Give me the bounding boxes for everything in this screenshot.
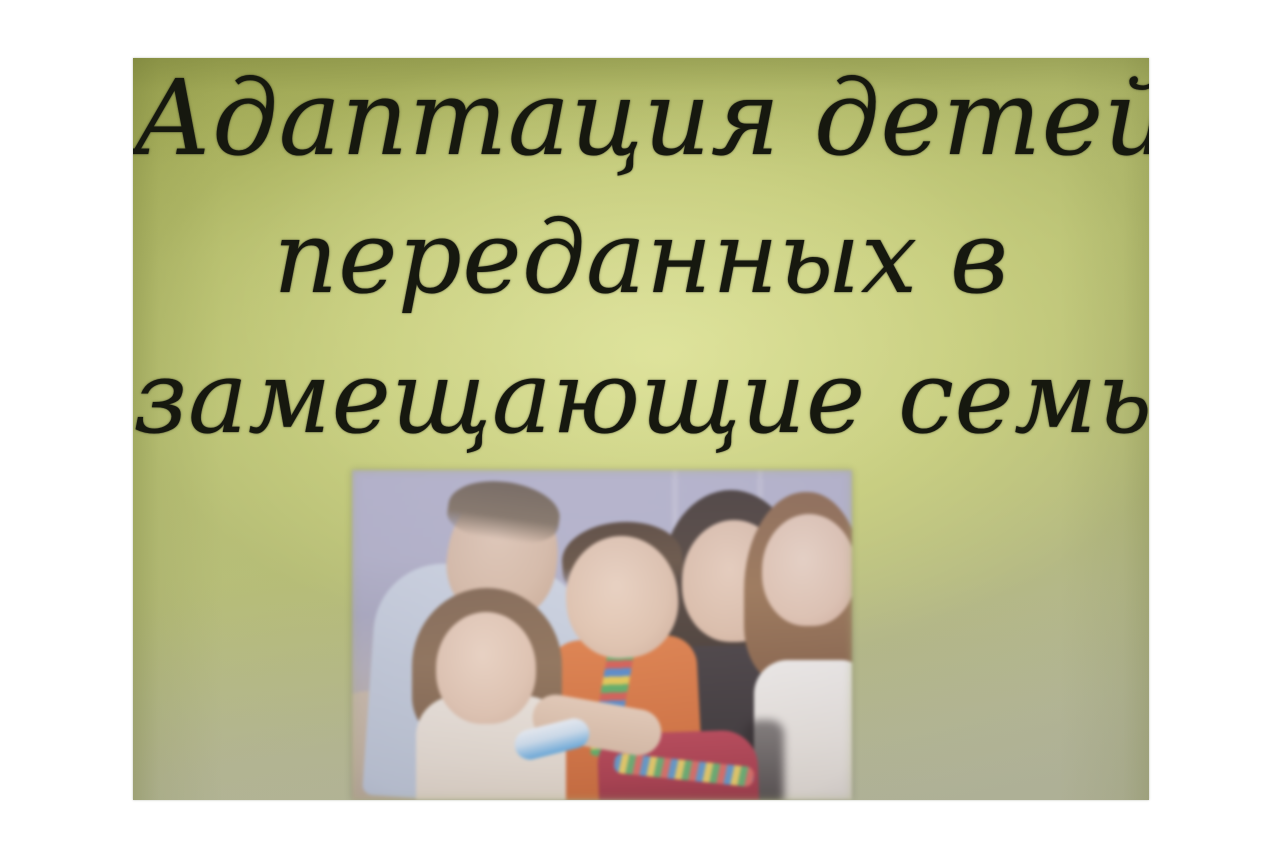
presentation-slide: Адаптация детей, переданных в замещающие… xyxy=(133,58,1149,800)
family-photo xyxy=(352,470,852,800)
photographed-page: Адаптация детей, переданных в замещающие… xyxy=(0,0,1280,860)
title-line-2: переданных в xyxy=(133,208,1149,308)
girl-front-head xyxy=(436,612,536,724)
girl-right-head xyxy=(762,514,852,626)
title-line-1: Адаптация детей, xyxy=(133,66,1149,170)
title-line-3: замещающие семьи xyxy=(133,348,1149,448)
photo-canvas xyxy=(352,470,852,800)
